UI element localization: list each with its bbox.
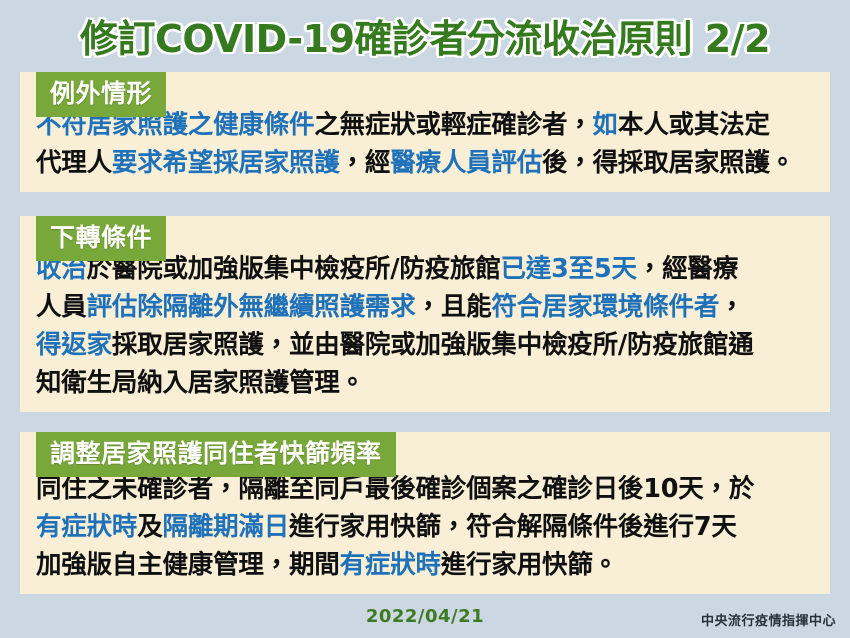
highlighted-text: 評估除隔離外無繼續照護需求	[87, 292, 416, 322]
body-text-run: 人員	[36, 292, 87, 322]
body-text-run: 本人或其法定	[618, 110, 770, 140]
section-body-exception: 不符居家照護之健康條件之無症狀或輕症確診者，如本人或其法定代理人要求希望採居家照…	[36, 106, 814, 182]
text-line: 得返家採取居家照護，並由醫院或加強版集中檢疫所/防疫旅館通	[36, 326, 814, 364]
body-text-run: ，	[719, 292, 744, 322]
text-line: 人員評估除隔離外無繼續照護需求，且能符合居家環境條件者，	[36, 288, 814, 326]
poster-canvas: 修訂COVID-19確診者分流收治原則 2/2 例外情形 不符居家照護之健康條件…	[0, 0, 850, 638]
body-text-run: 採取居家照護，並由醫院或加強版集中檢疫所/防疫旅館通	[112, 330, 754, 360]
highlighted-text: 符合居家環境條件者	[491, 292, 719, 322]
section-badge-downtransfer: 下轉條件	[36, 216, 166, 261]
body-text-run: 知衛生局納入居家照護管理。	[36, 368, 365, 398]
text-line: 有症狀時及隔離期滿日進行家用快篩，符合解隔條件後進行7天	[36, 508, 814, 546]
highlighted-text: 有症狀時	[340, 550, 441, 580]
highlighted-text: 醫療人員評估	[390, 148, 542, 178]
body-text-run: 及	[137, 512, 162, 542]
highlighted-text: 要求希望採居家照護	[112, 148, 340, 178]
footer: 2022/04/21 中央流行疫情指揮中心	[0, 606, 850, 632]
highlighted-text: 如	[593, 110, 618, 140]
highlighted-text: 已達3至5天	[501, 254, 637, 284]
body-text-run: ，且能	[416, 292, 492, 322]
body-text-run: 加強版自主健康管理，期間	[36, 550, 340, 580]
section-badge-exception: 例外情形	[36, 72, 166, 117]
body-text-run: ，經	[340, 148, 391, 178]
section-body-test-frequency: 同住之未確診者，隔離至同戶最後確診個案之確診日後10天，於有症狀時及隔離期滿日進…	[36, 470, 814, 584]
body-text-run: ，經醫療	[637, 254, 738, 284]
body-text-run: 代理人	[36, 148, 112, 178]
page-title: 修訂COVID-19確診者分流收治原則 2/2	[80, 8, 770, 63]
body-text-run: 後，得採取居家照護。	[542, 148, 795, 178]
highlighted-text: 得返家	[36, 330, 112, 360]
body-text-run: 進行家用快篩。	[441, 550, 618, 580]
highlighted-text: 有症狀時	[36, 512, 137, 542]
title-container: 修訂COVID-19確診者分流收治原則 2/2	[0, 8, 850, 63]
highlighted-text: 隔離期滿日	[163, 512, 290, 542]
text-line: 代理人要求希望採居家照護，經醫療人員評估後，得採取居家照護。	[36, 144, 814, 182]
section-downtransfer: 下轉條件 收治於醫院或加強版集中檢疫所/防疫旅館已達3至5天，經醫療人員評估除隔…	[20, 216, 830, 412]
body-text-run: 進行家用快篩，符合解隔條件後進行7天	[289, 512, 737, 542]
section-test-frequency: 調整居家照護同住者快篩頻率 同住之未確診者，隔離至同戶最後確診個案之確診日後10…	[20, 432, 830, 594]
body-text-run: 同住之未確診者，隔離至同戶最後確診個案之確診日後10天，於	[36, 474, 754, 504]
section-badge-test-frequency: 調整居家照護同住者快篩頻率	[36, 432, 396, 477]
footer-organization: 中央流行疫情指揮中心	[701, 610, 836, 629]
section-exception: 例外情形 不符居家照護之健康條件之無症狀或輕症確診者，如本人或其法定代理人要求希…	[20, 72, 830, 192]
body-text-run: 之無症狀或輕症確診者，	[314, 110, 592, 140]
section-body-downtransfer: 收治於醫院或加強版集中檢疫所/防疫旅館已達3至5天，經醫療人員評估除隔離外無繼續…	[36, 250, 814, 402]
text-line: 知衛生局納入居家照護管理。	[36, 364, 814, 402]
text-line: 加強版自主健康管理，期間有症狀時進行家用快篩。	[36, 546, 814, 584]
